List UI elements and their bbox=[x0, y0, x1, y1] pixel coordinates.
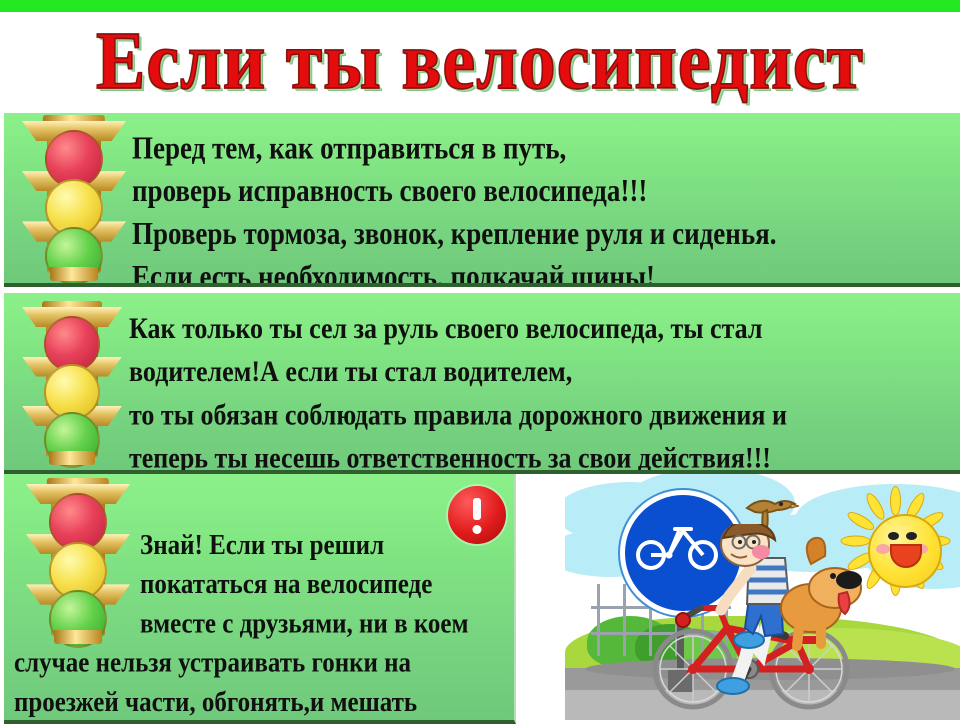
title-band: Если ты велосипедист bbox=[0, 12, 960, 110]
panel-3-text: Знай! Если ты решил покататься на велоси… bbox=[14, 526, 514, 724]
page-title: Если ты велосипедист bbox=[96, 20, 864, 103]
panel-2-line-1: Как только ты сел за руль своего велосип… bbox=[129, 307, 954, 350]
dog-nose bbox=[836, 571, 862, 589]
panel-2-line-3: то ты обязан соблюдать правила дорожного… bbox=[129, 394, 954, 437]
boy-shoe bbox=[734, 632, 764, 648]
traffic-light-foot bbox=[49, 451, 95, 465]
dog-leg bbox=[797, 628, 799, 646]
fence-post bbox=[597, 584, 600, 656]
panel-3-line-1: Знай! Если ты решил bbox=[14, 526, 514, 565]
traffic-light-icon bbox=[22, 121, 126, 273]
panel-you-are-driver: Как только ты сел за руль своего велосип… bbox=[4, 293, 960, 474]
panel-1-text: Перед тем, как отправиться в путь, прове… bbox=[132, 127, 952, 287]
panel-3-line-2: покататься на велосипеде bbox=[14, 565, 514, 604]
traffic-light-foot bbox=[50, 267, 98, 281]
boy-shoe bbox=[717, 678, 749, 694]
panel-1-line-1: Перед тем, как отправиться в путь, bbox=[132, 127, 952, 170]
panel-3-line-5: проезжей части, обгонять,и мешать bbox=[14, 683, 514, 722]
dog-eye bbox=[830, 573, 836, 579]
panel-no-racing: Знай! Если ты решил покататься на велоси… bbox=[4, 474, 516, 724]
sun-eye bbox=[906, 532, 917, 540]
illustration-cyclist-scene bbox=[565, 474, 960, 720]
panel-2-line-2: водителем!А если ты стал водителем, bbox=[129, 350, 954, 393]
dog-ear bbox=[807, 538, 825, 564]
fence-post bbox=[623, 584, 626, 656]
boy-cheek bbox=[752, 545, 770, 559]
panel-2-line-4: теперь ты несешь ответственность за свои… bbox=[129, 437, 954, 474]
sun-eye bbox=[888, 532, 899, 540]
panel-1-line-3: Проверь тормоза, звонок, крепление руля … bbox=[132, 213, 952, 256]
panel-3-line-3: вместе с друзьями, ни в коем bbox=[14, 604, 514, 643]
sun-ray bbox=[890, 486, 901, 516]
top-green-bar bbox=[0, 0, 960, 12]
panel-check-bike: Перед тем, как отправиться в путь, прове… bbox=[4, 113, 960, 287]
exclamation-bar bbox=[473, 498, 481, 520]
boy-on-bicycle-with-dog bbox=[649, 524, 879, 714]
panel-2-text: Как только ты сел за руль своего велосип… bbox=[129, 307, 954, 474]
panel-3-line-4: случае нельзя устраивать гонки на bbox=[14, 644, 514, 683]
panel-1-line-4: Если есть необходимость, подкачай шины! bbox=[132, 256, 952, 287]
bicycle-light bbox=[676, 613, 690, 627]
poster-root: Если ты велосипедист Перед тем, как отпр… bbox=[0, 0, 960, 720]
panel-1-line-2: проверь исправность своего велосипеда!!! bbox=[132, 170, 952, 213]
traffic-light-icon bbox=[22, 307, 122, 457]
